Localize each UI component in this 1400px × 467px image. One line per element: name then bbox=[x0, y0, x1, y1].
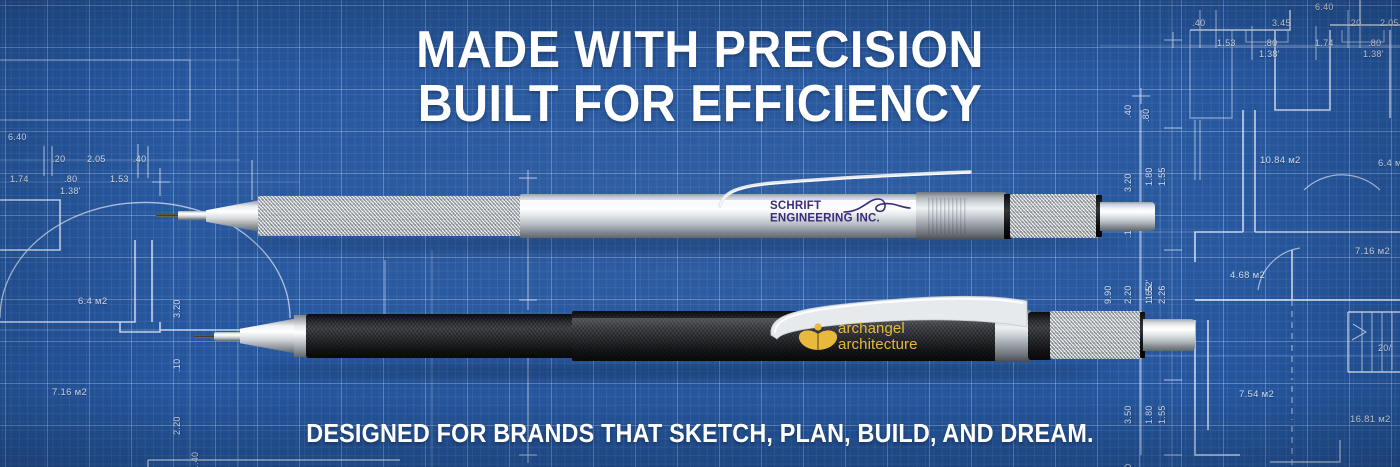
black-pen-imprint-line-1: archangel bbox=[838, 321, 918, 337]
black-pen-imprint: archangel architecture bbox=[838, 321, 918, 353]
wings-mark-icon bbox=[798, 322, 838, 354]
black-pen-imprint-line-2: architecture bbox=[838, 337, 918, 353]
black-pen-rear-knurl bbox=[1050, 311, 1142, 359]
headline-line-1: MADE WITH PRECISION bbox=[416, 21, 984, 79]
headline-line-2: BUILT FOR EFFICIENCY bbox=[49, 78, 1351, 132]
black-pen: archangel architecture bbox=[190, 285, 1140, 390]
black-pen-shadow bbox=[250, 365, 1110, 378]
silver-pen-grip bbox=[258, 196, 523, 236]
black-pen-end-cap bbox=[1143, 319, 1195, 351]
silver-pen-lead bbox=[156, 214, 180, 217]
swoosh-mark-icon bbox=[842, 196, 912, 218]
silver-pen-lead-sleeve bbox=[178, 211, 208, 220]
silver-pen-rear-knurl bbox=[1010, 194, 1098, 238]
black-pen-lead bbox=[194, 335, 216, 338]
silver-pen-cone bbox=[206, 200, 260, 232]
black-pen-cone bbox=[240, 318, 298, 354]
silver-pen-end-cap bbox=[1100, 202, 1155, 231]
tagline: DESIGNED FOR BRANDS THAT SKETCH, PLAN, B… bbox=[70, 418, 1330, 449]
silver-pen: SCHRIFT ENGINEERING INC. bbox=[150, 170, 1160, 265]
black-pen-lead-sleeve bbox=[214, 332, 242, 341]
headline: MADE WITH PRECISION BUILT FOR EFFICIENCY bbox=[49, 24, 1351, 131]
black-pen-grip bbox=[306, 314, 574, 358]
promo-banner: 6.40 .20 2.05 .40 1.74 .80 1.38' 1.53 3.… bbox=[0, 0, 1400, 467]
